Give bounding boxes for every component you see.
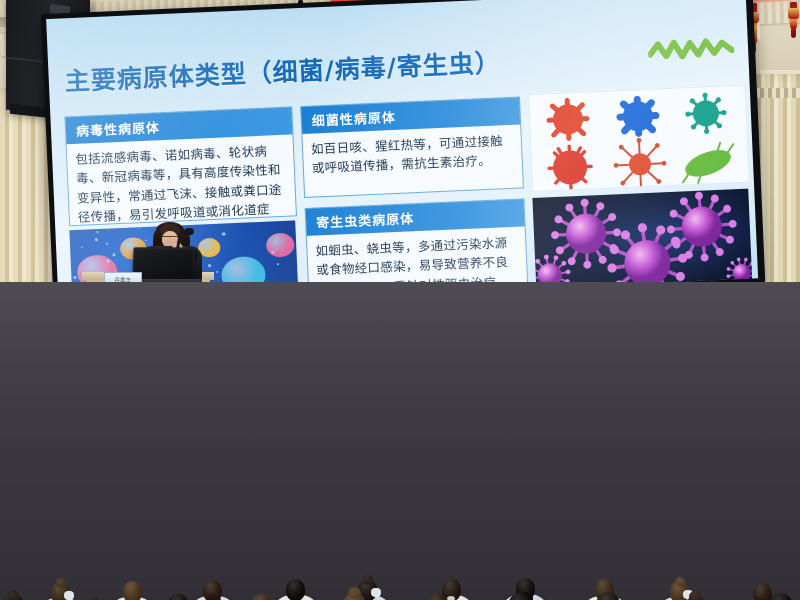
audience-member-bun (675, 577, 685, 587)
virus-3d-svg (532, 189, 752, 296)
audience-member-bun (348, 587, 360, 599)
microbe-speck (106, 243, 108, 245)
microbe-speck (139, 228, 140, 229)
tassel-tip (791, 26, 796, 38)
bacterium-icon-green-rod (681, 142, 735, 184)
microphone-head (184, 228, 194, 235)
audience-member-bun (363, 575, 373, 585)
slide-card-bacteria-body: 如百日咳、猩红热等，可通过接触或呼吸道传播，需抗生素治疗。 (302, 124, 522, 182)
microbe-speck (222, 232, 225, 235)
face-mask (371, 588, 381, 597)
microbe-speck (272, 251, 275, 254)
virus-particle-0 (550, 197, 623, 270)
slide-title: 主要病原体类型（细菌/病毒/寄生虫） (64, 43, 501, 98)
face-mask (64, 591, 74, 600)
audience-member-head (123, 581, 142, 600)
green-squiggle-icon (648, 35, 735, 65)
audience-member-head (167, 594, 191, 600)
microbe-speck (82, 247, 83, 248)
slide-image-virus-icon-grid (528, 85, 750, 192)
microbe-speck (217, 271, 219, 273)
audience-member-head (753, 583, 772, 600)
microbe-speck (145, 240, 147, 242)
presenter-glasses (162, 236, 178, 241)
microbe-speck (97, 231, 99, 233)
audience-member-head (769, 593, 793, 600)
microbe-speck (117, 259, 118, 260)
lecture-hall-photo: 主要病原体类型（细菌/病毒/寄生虫） 病毒性病原体 包括流感病毒、诺如病毒、轮状… (0, 0, 800, 600)
microbe-speck (107, 260, 110, 263)
laptop-screen (135, 249, 194, 279)
virus-icon-grid-svg (529, 86, 749, 191)
audience-member-head (79, 597, 103, 600)
blind-rail (752, 88, 800, 98)
audience-member-head (250, 594, 274, 600)
audience-area (0, 282, 800, 600)
audience-member-bun (56, 578, 66, 588)
microbe-pink2 (266, 232, 295, 257)
microbe-speck (277, 263, 279, 265)
virus-icon-red-round (548, 145, 592, 189)
virus-icon-red-long-spikes (613, 137, 668, 191)
audience-member-loose-hair (206, 594, 221, 600)
microbe-speck (112, 253, 115, 256)
slide-image-virus-3d (532, 189, 752, 296)
audience-member-bun (7, 590, 19, 600)
audience-member-bun (689, 591, 701, 600)
virus-icon-red-spiky (548, 100, 588, 140)
tassel (790, 2, 797, 28)
slide-card-virus: 病毒性病原体 包括流感病毒、诺如病毒、轮状病毒、新冠病毒等，具有高度传染性和变异… (64, 106, 297, 226)
microbe-speck (208, 264, 211, 267)
microbe-speck (74, 276, 77, 279)
microbe-speck (108, 229, 110, 231)
hair-scrunchie (447, 596, 455, 600)
microbe-speck (95, 238, 98, 241)
virus-particle-1 (665, 190, 738, 263)
virus-icon-teal-spiky (684, 92, 727, 135)
virus-icon-blue-spiky (619, 99, 656, 135)
tassel-knot (788, 8, 799, 19)
slide-card-bacteria: 细菌性病原体 如百日咳、猩红热等，可通过接触或呼吸道传播，需抗生素治疗。 (300, 96, 524, 198)
